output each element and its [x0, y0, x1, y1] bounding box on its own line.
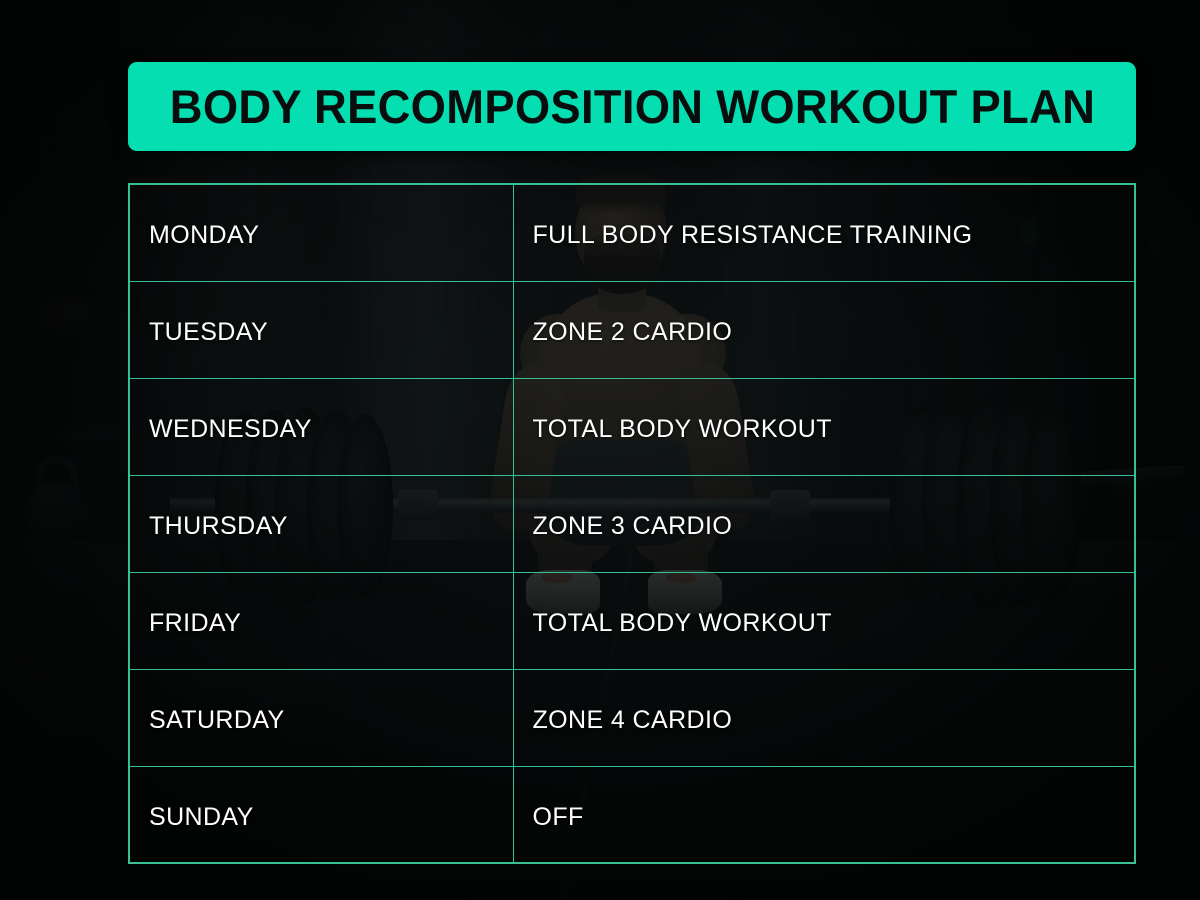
day-label: FRIDAY — [149, 609, 513, 638]
table-row: TUESDAY ZONE 2 CARDIO — [129, 281, 1135, 378]
day-cell: THURSDAY — [129, 475, 513, 572]
table-row: THURSDAY ZONE 3 CARDIO — [129, 475, 1135, 572]
day-cell: FRIDAY — [129, 572, 513, 669]
table-row: WEDNESDAY TOTAL BODY WORKOUT — [129, 378, 1135, 475]
day-cell: TUESDAY — [129, 281, 513, 378]
table-row: MONDAY FULL BODY RESISTANCE TRAINING — [129, 184, 1135, 281]
day-label: SATURDAY — [149, 706, 513, 735]
day-cell: SATURDAY — [129, 669, 513, 766]
poster-content: BODY RECOMPOSITION WORKOUT PLAN MONDAY F… — [0, 0, 1200, 900]
activity-label: ZONE 3 CARDIO — [533, 512, 1135, 541]
table-row: FRIDAY TOTAL BODY WORKOUT — [129, 572, 1135, 669]
activity-label: TOTAL BODY WORKOUT — [533, 609, 1135, 638]
table-row: SUNDAY OFF — [129, 766, 1135, 863]
activity-cell: OFF — [513, 766, 1135, 863]
day-label: SUNDAY — [149, 803, 513, 832]
day-cell: MONDAY — [129, 184, 513, 281]
title-banner: BODY RECOMPOSITION WORKOUT PLAN — [128, 62, 1136, 151]
table-row: SATURDAY ZONE 4 CARDIO — [129, 669, 1135, 766]
activity-label: TOTAL BODY WORKOUT — [533, 415, 1135, 444]
day-label: WEDNESDAY — [149, 415, 513, 444]
activity-cell: TOTAL BODY WORKOUT — [513, 378, 1135, 475]
activity-cell: ZONE 2 CARDIO — [513, 281, 1135, 378]
activity-cell: FULL BODY RESISTANCE TRAINING — [513, 184, 1135, 281]
activity-label: ZONE 2 CARDIO — [533, 318, 1135, 347]
activity-cell: ZONE 4 CARDIO — [513, 669, 1135, 766]
workout-plan-poster: BODY RECOMPOSITION WORKOUT PLAN MONDAY F… — [0, 0, 1200, 900]
day-cell: SUNDAY — [129, 766, 513, 863]
activity-cell: TOTAL BODY WORKOUT — [513, 572, 1135, 669]
day-cell: WEDNESDAY — [129, 378, 513, 475]
workout-schedule-table: MONDAY FULL BODY RESISTANCE TRAINING TUE… — [128, 183, 1136, 864]
activity-label: ZONE 4 CARDIO — [533, 706, 1135, 735]
activity-label: FULL BODY RESISTANCE TRAINING — [533, 221, 1135, 250]
day-label: THURSDAY — [149, 512, 513, 541]
activity-cell: ZONE 3 CARDIO — [513, 475, 1135, 572]
day-label: MONDAY — [149, 221, 513, 250]
page-title: BODY RECOMPOSITION WORKOUT PLAN — [169, 83, 1094, 130]
activity-label: OFF — [533, 803, 1135, 832]
day-label: TUESDAY — [149, 318, 513, 347]
